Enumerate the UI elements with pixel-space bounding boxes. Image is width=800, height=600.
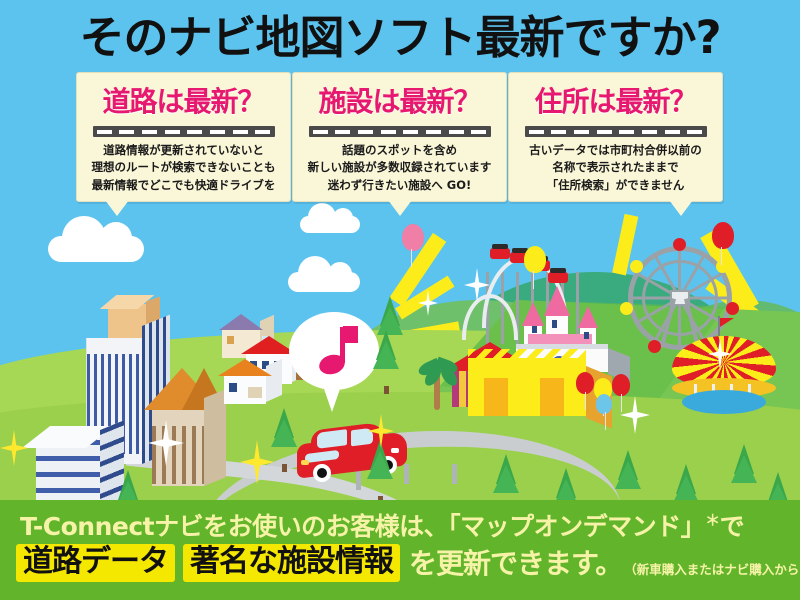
balloon [712, 222, 734, 249]
tree [274, 408, 294, 472]
balloon [576, 372, 594, 394]
highlight-facility-info: 著名な施設情報 [183, 544, 400, 582]
advertisement-canvas: そのナビ地図ソフト最新ですか? 道路は最新？ 道路情報が更新されていないと 理想… [0, 0, 800, 600]
page-title: そのナビ地図ソフト最新ですか? [0, 8, 800, 68]
highlight-road-data: 道路データ [16, 544, 175, 582]
asterisk-mark: ＊ [705, 512, 720, 530]
gondola [673, 238, 686, 251]
gondola [716, 260, 729, 273]
bubble-tail [669, 200, 693, 216]
info-box-line: 道路情報が更新されていないと [77, 142, 290, 159]
cloud-icon [300, 216, 360, 233]
road-dashes-icon [93, 126, 275, 137]
gondola [620, 302, 633, 315]
info-box-roads: 道路は最新？ 道路情報が更新されていないと 理想のルートが検索できないことも 最… [76, 72, 291, 202]
balloon [612, 374, 630, 396]
info-box-line: 名称で表示されたままで [509, 159, 722, 176]
tree [370, 440, 390, 504]
promo-band: T-Connectナビをお使いのお客様は、「マップオンデマンド」＊で 道路データ… [0, 500, 800, 600]
gondola [648, 340, 661, 353]
fine-print: （新車購入またはナビ購入から3年間無料） [624, 559, 800, 578]
info-box-line: 迷わず行きたい施設へ GO! [293, 177, 506, 194]
balloon [402, 224, 424, 251]
info-box-heading: 道路は最新？ [77, 80, 290, 120]
tower-roof-box [108, 304, 146, 338]
hall-building [152, 408, 204, 486]
music-note-bubble [289, 312, 379, 390]
info-box-facilities: 施設は最新？ 話題のスポットを含め 新しい施設が多数収録されています 迷わず行き… [292, 72, 507, 202]
info-box-line: 話題のスポットを含め [293, 142, 506, 159]
music-note-icon [319, 327, 353, 373]
info-box-line: 最新情報でどこでも快適ドライブを [77, 177, 290, 194]
info-box-line: 理想のルートが検索できないことも [77, 159, 290, 176]
bubble-tail [388, 200, 412, 216]
tree [734, 444, 754, 508]
promo-line-1-mid: ナビをお使いのお客様は、「マップオンデマンド」 [154, 512, 705, 541]
cloud-icon [48, 236, 144, 262]
info-box-heading: 住所は最新？ [509, 80, 722, 120]
road-dashes-icon [525, 126, 707, 137]
balloon [596, 394, 612, 414]
house [224, 374, 266, 404]
promo-line-1-suffix: で [720, 512, 745, 541]
bubble-tail [105, 200, 129, 216]
info-box-heading: 施設は最新？ [293, 80, 506, 120]
info-box-line: 新しい施設が多数収録されています [293, 159, 506, 176]
promo-line-2-tail: を更新できます。 [409, 542, 622, 582]
info-box-line: 古いデータでは市町村合併以前の [509, 142, 722, 159]
tree [376, 330, 396, 394]
info-box-line: 「住所検索」ができません [509, 177, 722, 194]
gondola [630, 260, 643, 273]
road-dashes-icon [309, 126, 491, 137]
info-box-row: 道路は最新？ 道路情報が更新されていないと 理想のルートが検索できないことも 最… [0, 72, 800, 212]
cloud-icon [288, 272, 360, 292]
balloon [524, 246, 546, 273]
info-box-addresses: 住所は最新？ 古いデータでは市町村合併以前の 名称で表示されたままで 「住所検索… [508, 72, 723, 202]
promo-line-2: 道路データ 著名な施設情報 を更新できます。 （新車購入またはナビ購入から3年間… [16, 542, 800, 582]
park-pavilion [468, 358, 586, 416]
gondola [726, 302, 739, 315]
road-pillar [452, 464, 457, 484]
red-car [295, 424, 413, 486]
tconnect-label: T-Connect [20, 512, 154, 541]
promo-line-1: T-Connectナビをお使いのお客様は、「マップオンデマンド」＊で [20, 507, 744, 543]
carousel [668, 330, 780, 416]
